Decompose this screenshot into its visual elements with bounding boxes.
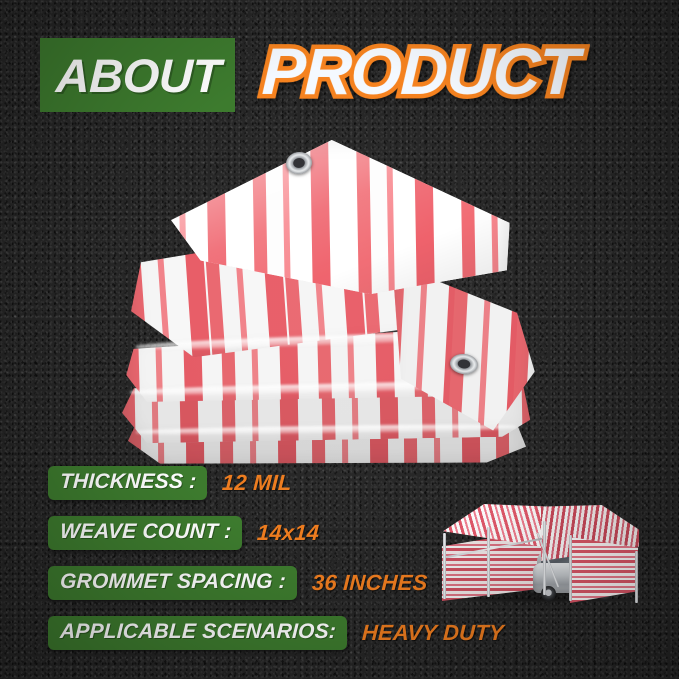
carport-pole	[487, 527, 490, 597]
header-title-product: PRODUCT	[261, 30, 580, 113]
inset-photo-carport	[437, 503, 639, 603]
spec-label-text: WEAVE COUNT :	[59, 520, 232, 544]
carport-pole	[635, 551, 638, 603]
spec-label-badge: THICKNESS :	[48, 466, 207, 499]
carport-pole	[569, 535, 572, 601]
spec-value-text: 36 INCHES	[311, 570, 428, 596]
infographic-page: ABOUT PRODUCT THICKNESS : 12 MIL WEAVE C…	[0, 0, 679, 679]
spec-label-badge: APPLICABLE SCENARIOS:	[48, 616, 347, 649]
spec-label-text: GROMMET SPACING :	[59, 570, 286, 594]
spec-row-thickness: THICKNESS : 12 MIL	[0, 458, 679, 508]
carport-pole	[443, 533, 446, 599]
spec-label-text: THICKNESS :	[59, 470, 197, 494]
spec-value-text: HEAVY DUTY	[361, 620, 504, 646]
spec-label-badge: GROMMET SPACING :	[48, 566, 297, 599]
header-banner: ABOUT PRODUCT	[0, 30, 679, 120]
spec-label-badge: WEAVE COUNT :	[48, 516, 242, 549]
product-photo-tarp	[120, 138, 540, 458]
spec-row-applicable-scenarios: APPLICABLE SCENARIOS: HEAVY DUTY	[0, 608, 679, 658]
header-title-about: ABOUT	[55, 52, 221, 99]
spec-value-text: 14x14	[257, 520, 321, 546]
spec-value-text: 12 MIL	[222, 470, 293, 496]
spec-label-text: APPLICABLE SCENARIOS:	[59, 620, 336, 644]
about-green-bar: ABOUT	[40, 38, 235, 112]
